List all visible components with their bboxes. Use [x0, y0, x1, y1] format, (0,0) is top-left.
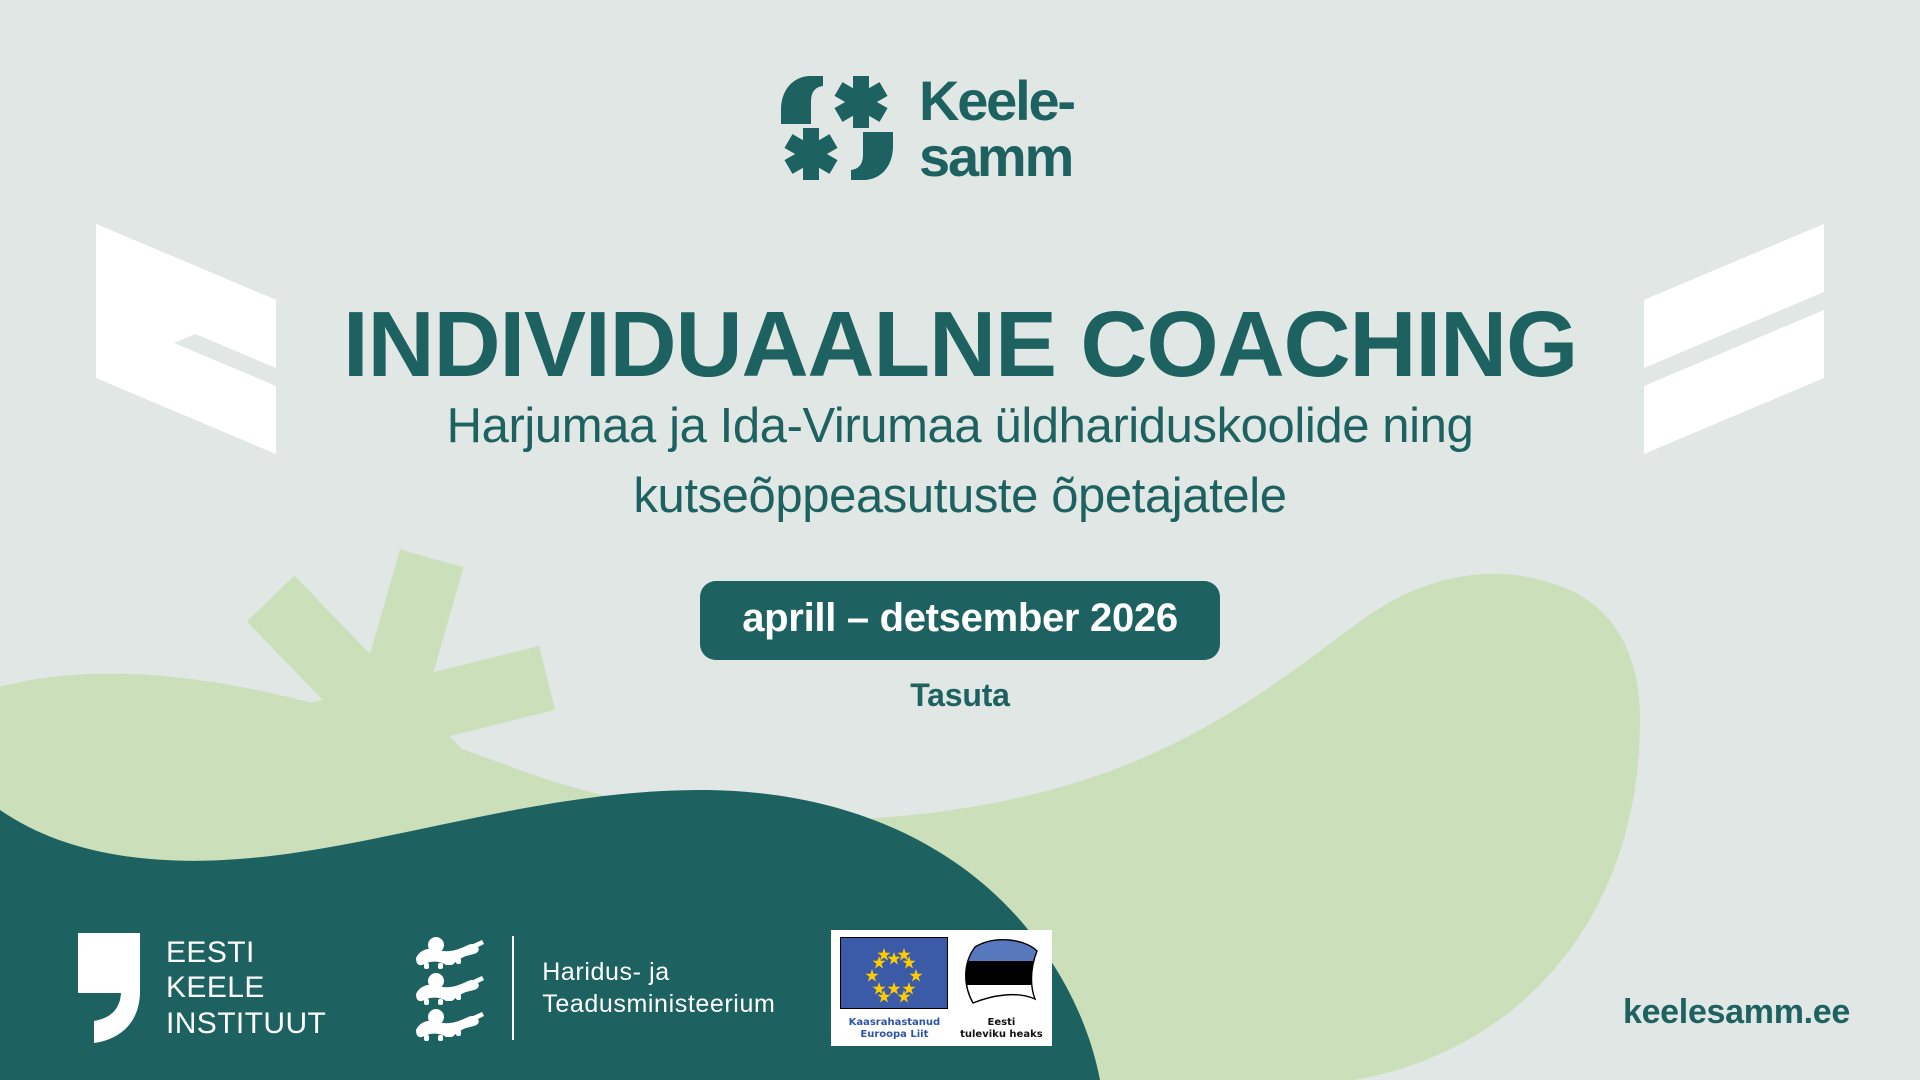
brand-wordmark-line2: samm [919, 125, 1072, 184]
brand-wordmark-line1: Keele- [919, 72, 1074, 132]
ee-caption-line-2: tuleviku heaks [959, 1029, 1043, 1041]
ministry-line-1: Haridus- ja [542, 956, 775, 989]
estonian-flag-wave [959, 937, 1043, 1009]
european-union-flag [840, 937, 948, 1009]
subtitle: Harjumaa ja Ida-Virumaa üldhariduskoolid… [0, 392, 1920, 531]
eki-logo: EESTI KEELE INSTITUUT [78, 933, 326, 1043]
subtitle-line-1: Harjumaa ja Ida-Virumaa üldhariduskoolid… [0, 392, 1920, 462]
page-title: INDIVIDUAALNE COACHING [0, 298, 1920, 391]
eki-line-3: INSTITUUT [166, 1006, 326, 1041]
ee-caption-line-1: Eesti [959, 1017, 1043, 1029]
eu-flag-caption: Kaasrahastanud Euroopa Liit [840, 1017, 948, 1041]
eu-caption-line-2: Euroopa Liit [840, 1029, 948, 1041]
ee-flag-caption: Eesti tuleviku heaks [959, 1017, 1043, 1041]
eki-line-1: EESTI [166, 935, 326, 970]
date-pill-container: aprill – detsember 2026 [0, 581, 1920, 660]
subtitle-line-2: kutseõppeasutuste õpetajatele [0, 462, 1920, 532]
eki-wordmark: EESTI KEELE INSTITUUT [166, 935, 326, 1040]
brand-wordmark: Keele- samm [919, 72, 1139, 184]
date-range-badge: aprill – detsember 2026 [700, 581, 1220, 660]
ministry-wordmark: Haridus- ja Teadusministeerium [542, 956, 775, 1021]
ministry-line-2: Teadusministeerium [542, 988, 775, 1021]
brand-logo: Keele- samm [0, 72, 1920, 184]
website-url[interactable]: keelesamm.ee [1623, 993, 1850, 1032]
ministry-logo: Haridus- ja Teadusministeerium [412, 932, 775, 1044]
ee-flag-cell: Eesti tuleviku heaks [959, 937, 1043, 1041]
eu-flag-cell: Kaasrahastanud Euroopa Liit [840, 937, 948, 1041]
price-label: Tasuta [0, 677, 1920, 714]
eki-line-2: KEELE [166, 970, 326, 1005]
eki-comma-mark [78, 933, 140, 1043]
poster-canvas: Keele- samm INDIVIDUAALNE COACHING Harju… [0, 0, 1920, 1080]
asterisk-decor [186, 514, 586, 921]
estonian-three-lions-crest [412, 932, 486, 1044]
ministry-logo-divider [512, 936, 514, 1040]
keele-samm-asterisk-quote-mark [781, 76, 893, 180]
eu-funding-logo-box: Kaasrahastanud Euroopa Liit [831, 930, 1052, 1046]
eu-caption-line-1: Kaasrahastanud [840, 1017, 948, 1029]
footer-logo-row: EESTI KEELE INSTITUUT [78, 918, 1052, 1058]
